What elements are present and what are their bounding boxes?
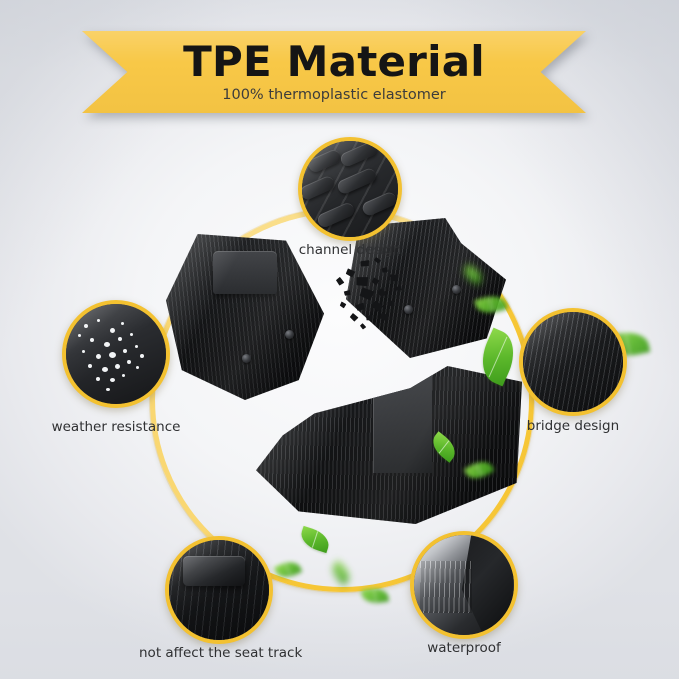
tpe-granule xyxy=(345,268,355,278)
tpe-granules xyxy=(330,258,416,328)
seat-rail-shape xyxy=(183,556,245,586)
mat-sheen xyxy=(256,366,522,524)
tpe-granule xyxy=(355,301,367,312)
page-title: TPE Material xyxy=(183,41,485,84)
callout-label-waterproof: waterproof xyxy=(410,640,518,656)
page-subtitle: 100% thermoplastic elastomer xyxy=(222,87,445,103)
callout-image-weather-resistance xyxy=(66,304,166,404)
callout-bubble-channel-design[interactable] xyxy=(298,137,402,241)
callout-label-bridge-design: bridge design xyxy=(519,418,627,434)
callout-image-seat-track xyxy=(169,540,269,640)
tpe-granule xyxy=(381,266,389,274)
callout-label-weather-resistance: weather resistance xyxy=(44,419,188,435)
tpe-granule xyxy=(359,287,375,301)
mat-anchor-stud xyxy=(242,354,251,363)
tpe-granule xyxy=(389,273,399,282)
tpe-granule xyxy=(355,275,370,288)
callout-image-channel-design xyxy=(302,141,398,237)
mat-anchor-stud xyxy=(285,330,294,339)
callout-bubble-bridge-design[interactable] xyxy=(519,308,627,416)
tpe-granule xyxy=(365,314,373,322)
tpe-granule xyxy=(388,300,396,308)
callout-bubble-waterproof[interactable] xyxy=(410,531,518,639)
tpe-granule xyxy=(371,300,385,312)
banner-text-group: TPE Material 100% thermoplastic elastome… xyxy=(82,31,586,113)
tpe-granule xyxy=(379,312,389,321)
mat-sheen xyxy=(166,234,324,400)
tpe-granule xyxy=(371,277,380,286)
callout-label-channel-design: channel design xyxy=(298,242,402,258)
callout-image-bridge-design xyxy=(523,312,623,412)
tpe-granule xyxy=(359,259,371,269)
callout-bubble-seat-track[interactable] xyxy=(165,536,273,644)
tpe-granule xyxy=(339,301,346,308)
floor-mat-rear xyxy=(256,366,522,524)
mat-anchor-stud xyxy=(452,285,461,294)
water-ripple-shape xyxy=(420,561,472,613)
tpe-granule xyxy=(395,285,402,292)
tpe-granule xyxy=(335,276,346,287)
tpe-granule xyxy=(343,289,352,297)
tpe-granule xyxy=(376,287,387,298)
callout-label-seat-track: not affect the seat track xyxy=(139,645,299,661)
floor-mat-front-left xyxy=(166,234,324,400)
tpe-granule xyxy=(349,313,359,323)
callout-image-waterproof xyxy=(414,535,514,635)
banner-ribbon: TPE Material 100% thermoplastic elastome… xyxy=(82,31,586,113)
callout-bubble-weather-resistance[interactable] xyxy=(62,300,170,408)
